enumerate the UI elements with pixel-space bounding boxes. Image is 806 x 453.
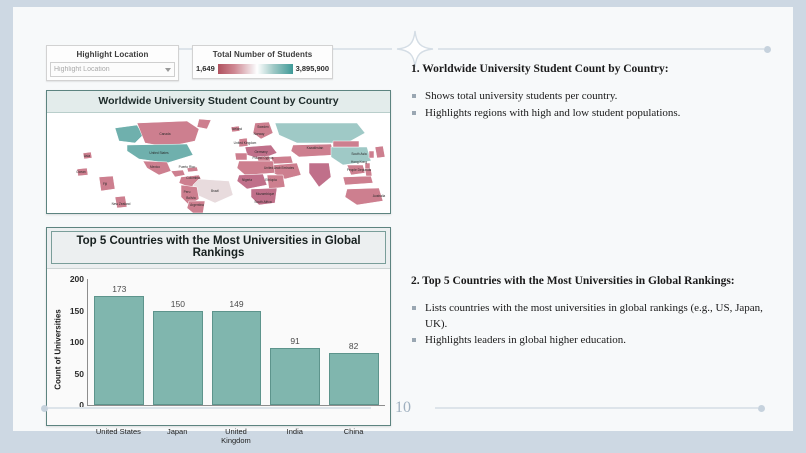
bullet-square-icon [412, 338, 416, 342]
bar-value-label: 82 [349, 341, 358, 351]
legend-min-value: 1,649 [196, 64, 215, 73]
svg-text:United Arab Emirates: United Arab Emirates [264, 166, 295, 170]
svg-text:Norway: Norway [254, 132, 265, 136]
bullet-square-icon [412, 94, 416, 98]
chart-title-bar: Top 5 Countries with the Most Universiti… [47, 228, 390, 269]
svg-text:Sweden: Sweden [257, 125, 269, 129]
bar-column[interactable]: 82 [329, 279, 379, 405]
student-count-legend: Total Number of Students 1,649 3,895,900 [192, 45, 333, 79]
notes-bullet-list: Shows total university students per coun… [411, 89, 771, 121]
bullet-square-icon [412, 306, 416, 310]
bar[interactable] [94, 296, 144, 405]
highlight-location-control[interactable]: Highlight Location Highlight Location [46, 45, 179, 81]
svg-text:Asia: Asia [84, 154, 90, 158]
svg-text:South Asia: South Asia [351, 152, 366, 156]
svg-text:New Zealand: New Zealand [112, 202, 131, 206]
y-tick: 50 [75, 369, 84, 379]
bar-column[interactable]: 149 [212, 279, 262, 405]
bar-column[interactable]: 173 [94, 279, 144, 405]
dashboard-panel: Highlight Location Highlight Location To… [46, 45, 391, 426]
map-panel: Worldwide University Student Count by Co… [46, 90, 391, 214]
world-map[interactable]: Canada United States Mexico Puerto Rico … [47, 113, 390, 213]
svg-text:South Africa: South Africa [254, 200, 271, 204]
svg-text:Germany: Germany [254, 150, 268, 154]
bar-column[interactable]: 150 [153, 279, 203, 405]
bar-value-label: 173 [112, 284, 126, 294]
bar[interactable] [212, 311, 262, 405]
list-item-text: Lists countries with the most universiti… [425, 302, 763, 330]
x-tick-label: India [270, 427, 320, 445]
highlight-location-placeholder: Highlight Location [54, 66, 165, 73]
list-item: Highlights regions with high and low stu… [411, 106, 771, 122]
y-tick: 100 [70, 337, 84, 347]
y-axis-ticks: 200 150 100 50 0 [65, 279, 87, 405]
svg-text:People Deplands: People Deplands [347, 168, 372, 172]
bar[interactable] [153, 311, 203, 406]
bullet-square-icon [412, 111, 416, 115]
svg-text:Ethiopia: Ethiopia [265, 178, 277, 182]
svg-text:Nigeria: Nigeria [242, 178, 252, 182]
list-item: Lists countries with the most universiti… [411, 301, 771, 332]
bar-value-label: 91 [290, 336, 299, 346]
highlight-location-select[interactable]: Highlight Location [50, 62, 175, 77]
svg-text:Mozambique: Mozambique [256, 192, 274, 196]
page-number: 10 [371, 399, 435, 417]
notes-bullet-list: Lists countries with the most universiti… [411, 301, 771, 349]
footer-decoration: 10 [13, 399, 793, 417]
slide-canvas: Highlight Location Highlight Location To… [13, 7, 793, 431]
footer-line-left [48, 407, 371, 409]
bar-value-label: 150 [171, 299, 185, 309]
list-item-text: Shows total university students per coun… [425, 90, 617, 102]
svg-text:Bolivia: Bolivia [186, 196, 196, 200]
bar[interactable] [329, 353, 379, 405]
legend-scale: 1,649 3,895,900 [196, 62, 329, 75]
map-title: Worldwide University Student Count by Co… [47, 91, 390, 113]
y-tick: 200 [70, 274, 84, 284]
x-axis-labels: United States Japan United Kingdom India… [87, 425, 385, 445]
svg-text:United Kingdom: United Kingdom [234, 141, 257, 145]
svg-text:Argentina: Argentina [190, 203, 204, 207]
y-tick: 150 [70, 306, 84, 316]
svg-text:Kazakhstan: Kazakhstan [307, 146, 324, 150]
list-item: Shows total university students per coun… [411, 89, 771, 105]
bar-group: 173 150 149 [88, 279, 385, 405]
x-tick-label: United States [93, 427, 143, 445]
list-item-text: Highlights leaders in global higher educ… [425, 334, 626, 346]
footer-dot-left [41, 405, 48, 412]
rule-dot-right [764, 46, 771, 53]
list-item: Highlights leaders in global higher educ… [411, 333, 771, 349]
footer-dot-right [758, 405, 765, 412]
notes-heading: 2. Top 5 Countries with the Most Univers… [411, 274, 771, 288]
list-item-text: Highlights regions with high and low stu… [425, 107, 680, 119]
legend-max-value: 3,895,900 [296, 64, 329, 73]
chart-title: Top 5 Countries with the Most Universiti… [51, 231, 386, 264]
svg-text:United States: United States [149, 151, 169, 155]
x-tick-label: United Kingdom [211, 427, 261, 445]
bar[interactable] [270, 348, 320, 405]
svg-text:Colombia: Colombia [186, 176, 200, 180]
svg-text:Australia: Australia [373, 194, 386, 198]
legend-color-ramp [218, 64, 293, 74]
world-map-svg: Canada United States Mexico Puerto Rico … [47, 113, 390, 213]
x-tick-label: China [329, 427, 379, 445]
bar-column[interactable]: 91 [270, 279, 320, 405]
svg-text:Brazil: Brazil [211, 189, 219, 193]
dashboard-controls: Highlight Location Highlight Location To… [46, 45, 391, 81]
notes-section-1: 1. Worldwide University Student Count by… [411, 62, 771, 122]
highlight-location-title: Highlight Location [50, 48, 175, 62]
svg-text:Iceland: Iceland [232, 127, 243, 131]
svg-text:Poland Cyprus: Poland Cyprus [253, 156, 274, 160]
legend-title: Total Number of Students [196, 48, 329, 62]
chevron-down-icon[interactable] [165, 68, 171, 72]
svg-text:Mexico: Mexico [150, 165, 160, 169]
bar-chart-panel: Top 5 Countries with the Most Universiti… [46, 227, 391, 426]
svg-text:Fiji: Fiji [103, 182, 107, 186]
notes-heading: 1. Worldwide University Student Count by… [411, 62, 771, 76]
x-tick-label: Japan [152, 427, 202, 445]
chart-plot-area: 173 150 149 [87, 279, 385, 406]
rule-line-right [438, 48, 764, 50]
notes-section-2: 2. Top 5 Countries with the Most Univers… [411, 274, 771, 349]
svg-text:Peru: Peru [184, 190, 191, 194]
footer-line-right [435, 407, 758, 409]
notes-column: 1. Worldwide University Student Count by… [411, 62, 771, 367]
svg-text:Canada: Canada [159, 132, 170, 136]
svg-text:Hong Kong: Hong Kong [351, 160, 367, 164]
svg-text:Puerto Rico: Puerto Rico [179, 165, 196, 169]
bar-value-label: 149 [229, 299, 243, 309]
svg-text:Ocean: Ocean [76, 170, 86, 174]
